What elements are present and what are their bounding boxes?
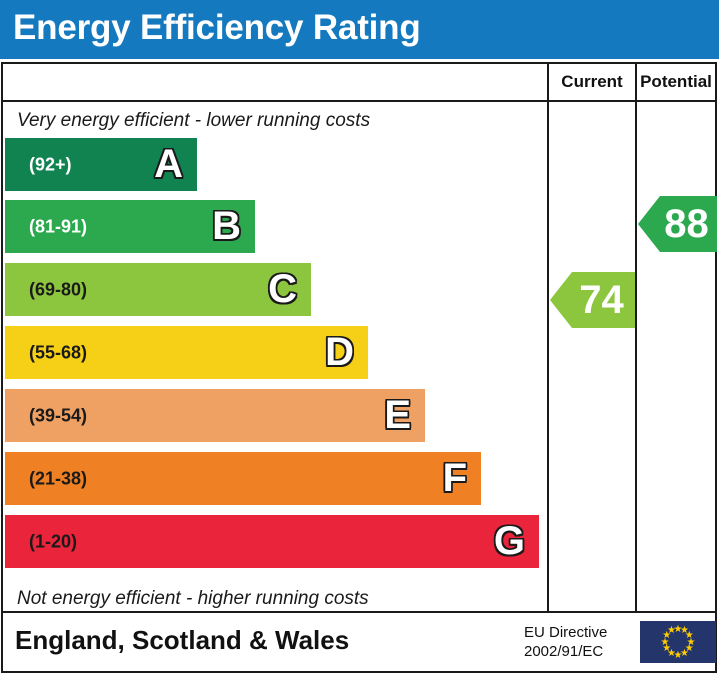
header-bottom-rule	[3, 100, 715, 102]
band-letter-a: A	[154, 144, 183, 184]
column-header-current: Current	[549, 64, 635, 100]
band-letter-c: C	[268, 269, 297, 309]
band-letter-d: D	[325, 332, 354, 372]
eu-directive-text: EU Directive 2002/91/EC	[524, 623, 607, 661]
page-title: Energy Efficiency Rating	[13, 8, 421, 48]
band-range-a: (92+)	[29, 154, 72, 175]
band-letter-b: B	[212, 206, 241, 246]
eu-directive-line2: 2002/91/EC	[524, 642, 607, 661]
band-bars: (92+) A (81-91) B (69-80) C (55-68) D (3…	[5, 138, 539, 583]
band-range-b: (81-91)	[29, 216, 87, 237]
footer-bar: England, Scotland & Wales EU Directive 2…	[1, 613, 717, 673]
band-range-e: (39-54)	[29, 405, 87, 426]
band-row-a: (92+) A	[5, 138, 197, 191]
band-row-c: (69-80) C	[5, 263, 311, 316]
caption-top: Very energy efficient - lower running co…	[17, 110, 370, 132]
body-divider-2	[635, 102, 637, 613]
caption-bottom: Not energy efficient - higher running co…	[17, 588, 369, 610]
band-row-d: (55-68) D	[5, 326, 368, 379]
column-header-potential: Potential	[637, 64, 715, 100]
band-range-f: (21-38)	[29, 468, 87, 489]
body-divider-1	[547, 102, 549, 613]
band-row-e: (39-54) E	[5, 389, 425, 442]
eu-directive-line1: EU Directive	[524, 623, 607, 642]
potential-rating-badge: 88	[638, 196, 717, 252]
band-row-f: (21-38) F	[5, 452, 481, 505]
footer-region-label: England, Scotland & Wales	[15, 625, 349, 656]
eu-flag-icon: ★★★★★★★★★★★★	[640, 621, 716, 663]
band-range-g: (1-20)	[29, 531, 77, 552]
band-range-c: (69-80)	[29, 279, 87, 300]
eu-star-icon: ★	[667, 626, 676, 635]
band-letter-e: E	[384, 395, 411, 435]
table-header-row: Current Potential	[3, 64, 715, 100]
energy-efficiency-rating-chart: Energy Efficiency Rating Current Potenti…	[0, 0, 719, 675]
rating-table: Current Potential Very energy efficient …	[1, 62, 717, 613]
title-bar: Energy Efficiency Rating	[0, 0, 719, 59]
band-row-b: (81-91) B	[5, 200, 255, 253]
band-range-d: (55-68)	[29, 342, 87, 363]
current-rating-badge: 74	[550, 272, 635, 328]
band-letter-g: G	[494, 521, 525, 561]
band-letter-f: F	[443, 458, 467, 498]
band-row-g: (1-20) G	[5, 515, 539, 568]
